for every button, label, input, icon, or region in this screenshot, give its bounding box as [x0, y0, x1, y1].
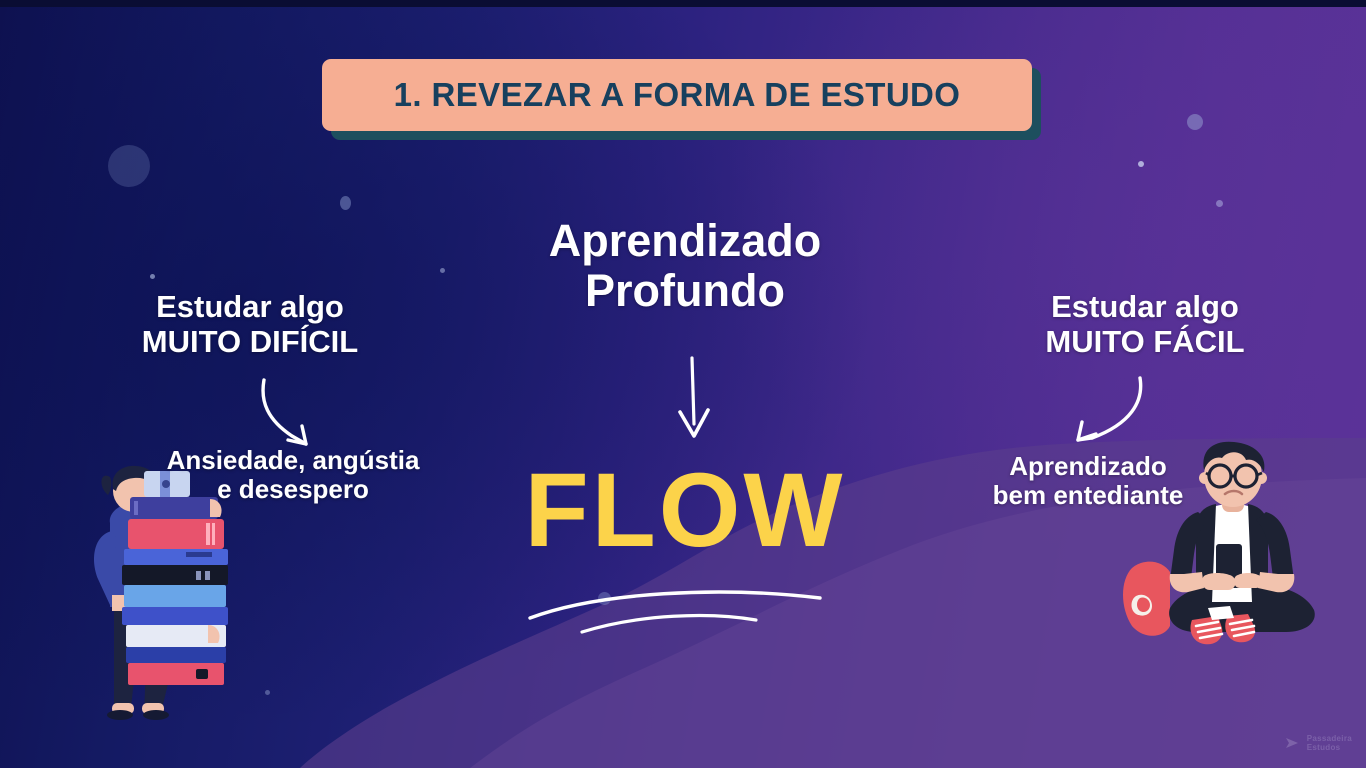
right-heading-line2: MUITO FÁCIL	[985, 325, 1305, 360]
decorative-dot	[265, 690, 270, 695]
decorative-dot	[1216, 200, 1223, 207]
right-result-line2: bem entediante	[938, 481, 1238, 510]
watermark-text: Passadeira	[1307, 734, 1352, 743]
right-heading: Estudar algo MUITO FÁCIL	[985, 290, 1305, 359]
letterbox-strip	[0, 0, 1366, 7]
flow-keyword: FLOW	[440, 458, 930, 563]
decorative-dot	[108, 145, 150, 187]
decorative-dot	[440, 268, 445, 273]
right-result-line1: Aprendizado	[938, 452, 1238, 481]
center-heading-line2: Profundo	[470, 266, 900, 316]
center-heading-line1: Aprendizado	[470, 216, 900, 266]
arrow-down-icon	[650, 352, 740, 452]
center-heading: Aprendizado Profundo	[470, 216, 900, 317]
watermark: Passadeira Estudos	[1285, 734, 1352, 752]
decorative-dot	[150, 274, 155, 279]
right-heading-line1: Estudar algo	[985, 290, 1305, 325]
right-result: Aprendizado bem entediante	[938, 452, 1238, 510]
left-heading: Estudar algo MUITO DIFÍCIL	[90, 290, 410, 359]
slide-canvas: 1. REVEZAR A FORMA DE ESTUDO Estudar alg…	[0, 0, 1366, 768]
arrow-down-left-icon	[1048, 372, 1168, 462]
watermark-sub: Estudos	[1307, 743, 1352, 752]
decorative-dot	[1138, 161, 1144, 167]
play-arrow-icon	[1285, 737, 1303, 749]
title-banner: 1. REVEZAR A FORMA DE ESTUDO	[322, 59, 1032, 131]
left-result-line2: e desespero	[118, 475, 468, 504]
decorative-dot	[340, 196, 351, 210]
decorative-dot	[1187, 114, 1203, 130]
page-title: 1. REVEZAR A FORMA DE ESTUDO	[394, 76, 961, 114]
title-banner-body: 1. REVEZAR A FORMA DE ESTUDO	[322, 59, 1032, 131]
left-result: Ansiedade, angústia e desespero	[118, 446, 468, 504]
left-result-line1: Ansiedade, angústia	[118, 446, 468, 475]
left-heading-line1: Estudar algo	[90, 290, 410, 325]
left-heading-line2: MUITO DIFÍCIL	[90, 325, 410, 360]
flow-underline-strokes	[520, 570, 860, 640]
